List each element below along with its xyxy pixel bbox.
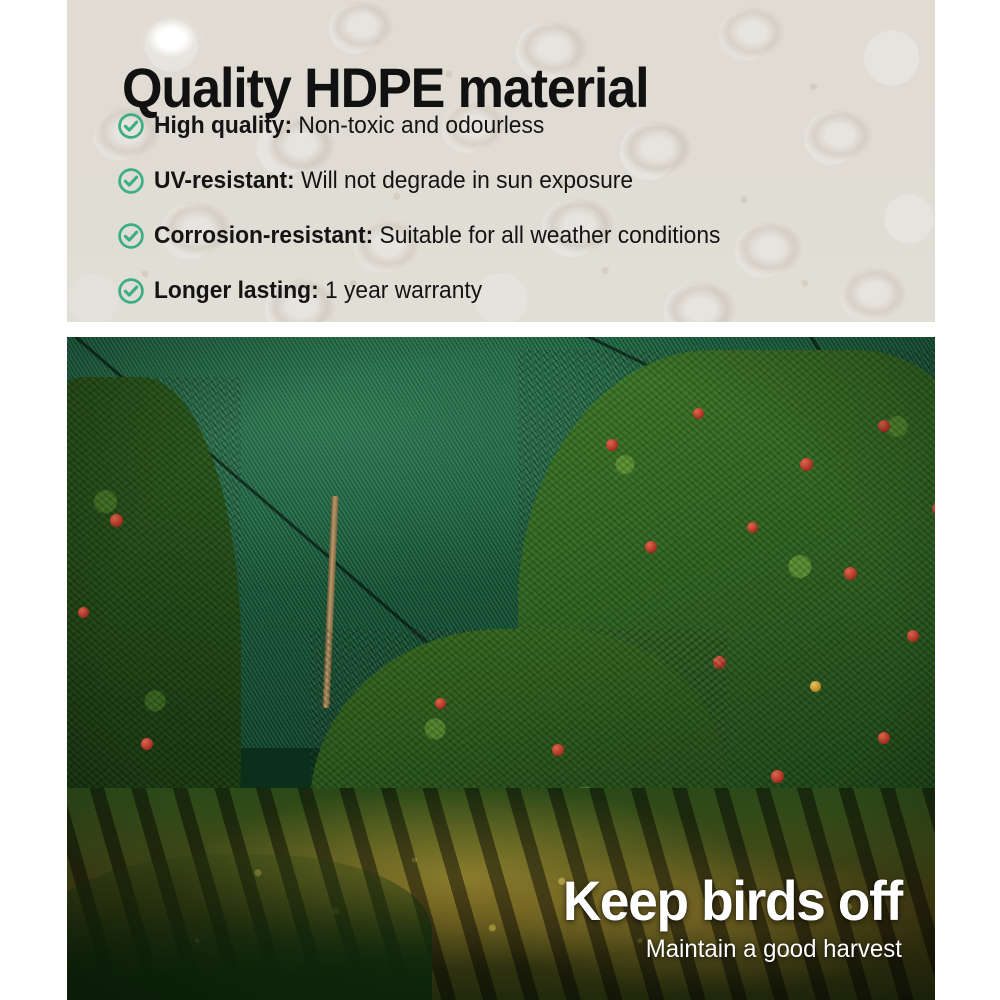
apple-fruit <box>435 698 446 709</box>
list-item: Longer lasting: 1 year warranty <box>117 263 750 318</box>
hdpe-material-panel: Quality HDPE material High quality: Non-… <box>67 0 935 322</box>
top-panel-content: Quality HDPE material High quality: Non-… <box>67 0 935 322</box>
apple-fruit <box>552 744 564 756</box>
orchard-photo-panel: Keep birds off Maintain a good harvest <box>67 337 935 1000</box>
apple-fruit <box>693 408 704 419</box>
apple-fruit <box>645 541 657 553</box>
feature-detail: Suitable for all weather conditions <box>380 222 721 249</box>
feature-list: High quality: Non-toxic and odourless UV… <box>117 98 750 318</box>
check-circle-icon <box>117 277 145 305</box>
feature-text: High quality: Non-toxic and odourless <box>154 112 544 140</box>
list-item: High quality: Non-toxic and odourless <box>117 98 750 153</box>
list-item: Corrosion-resistant: Suitable for all we… <box>117 208 750 263</box>
feature-text: Longer lasting: 1 year warranty <box>154 277 482 305</box>
feature-detail: 1 year warranty <box>325 277 482 304</box>
overlay-headline: Keep birds off <box>563 872 902 930</box>
feature-label: High quality: <box>154 112 292 139</box>
foreground-vegetation <box>67 854 432 1000</box>
check-circle-icon <box>117 222 145 250</box>
apple-fruit <box>110 514 123 527</box>
overlay-subheadline: Maintain a good harvest <box>559 935 902 964</box>
check-circle-icon <box>117 112 145 140</box>
feature-label: Corrosion-resistant: <box>154 222 373 249</box>
apple-fruit <box>844 567 857 580</box>
check-circle-icon <box>117 167 145 195</box>
feature-detail: Will not degrade in sun exposure <box>301 167 633 194</box>
feature-label: Longer lasting: <box>154 277 319 304</box>
photo-overlay-caption: Keep birds off Maintain a good harvest <box>545 872 902 964</box>
feature-text: Corrosion-resistant: Suitable for all we… <box>154 222 720 250</box>
apple-fruit <box>747 522 758 533</box>
product-feature-graphic: Quality HDPE material High quality: Non-… <box>0 0 1000 1000</box>
list-item: UV-resistant: Will not degrade in sun ex… <box>117 153 750 208</box>
feature-detail: Non-toxic and odourless <box>298 112 544 139</box>
feature-label: UV-resistant: <box>154 167 295 194</box>
feature-text: UV-resistant: Will not degrade in sun ex… <box>154 167 633 195</box>
